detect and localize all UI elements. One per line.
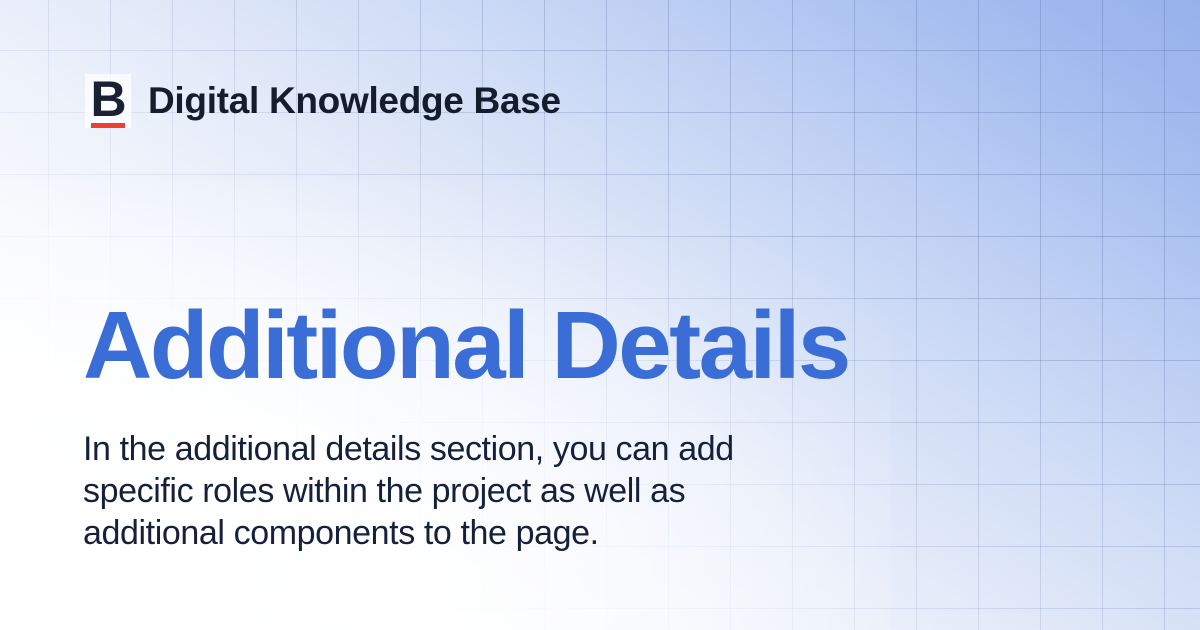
brand-header: B Digital Knowledge Base [85, 73, 561, 129]
description-text: In the additional details section, you c… [83, 428, 873, 554]
description-line: specific roles within the project as wel… [83, 470, 873, 512]
logo-accent-bar [91, 123, 125, 128]
brand-title: Digital Knowledge Base [148, 79, 561, 123]
logo-letter: B [90, 77, 125, 121]
description-line: additional components to the page. [83, 512, 873, 554]
banner-canvas: B Digital Knowledge Base Additional Deta… [0, 0, 1200, 630]
page-title: Additional Details [83, 298, 849, 394]
b-monogram-logo-icon: B [85, 74, 131, 128]
description-line: In the additional details section, you c… [83, 428, 873, 470]
